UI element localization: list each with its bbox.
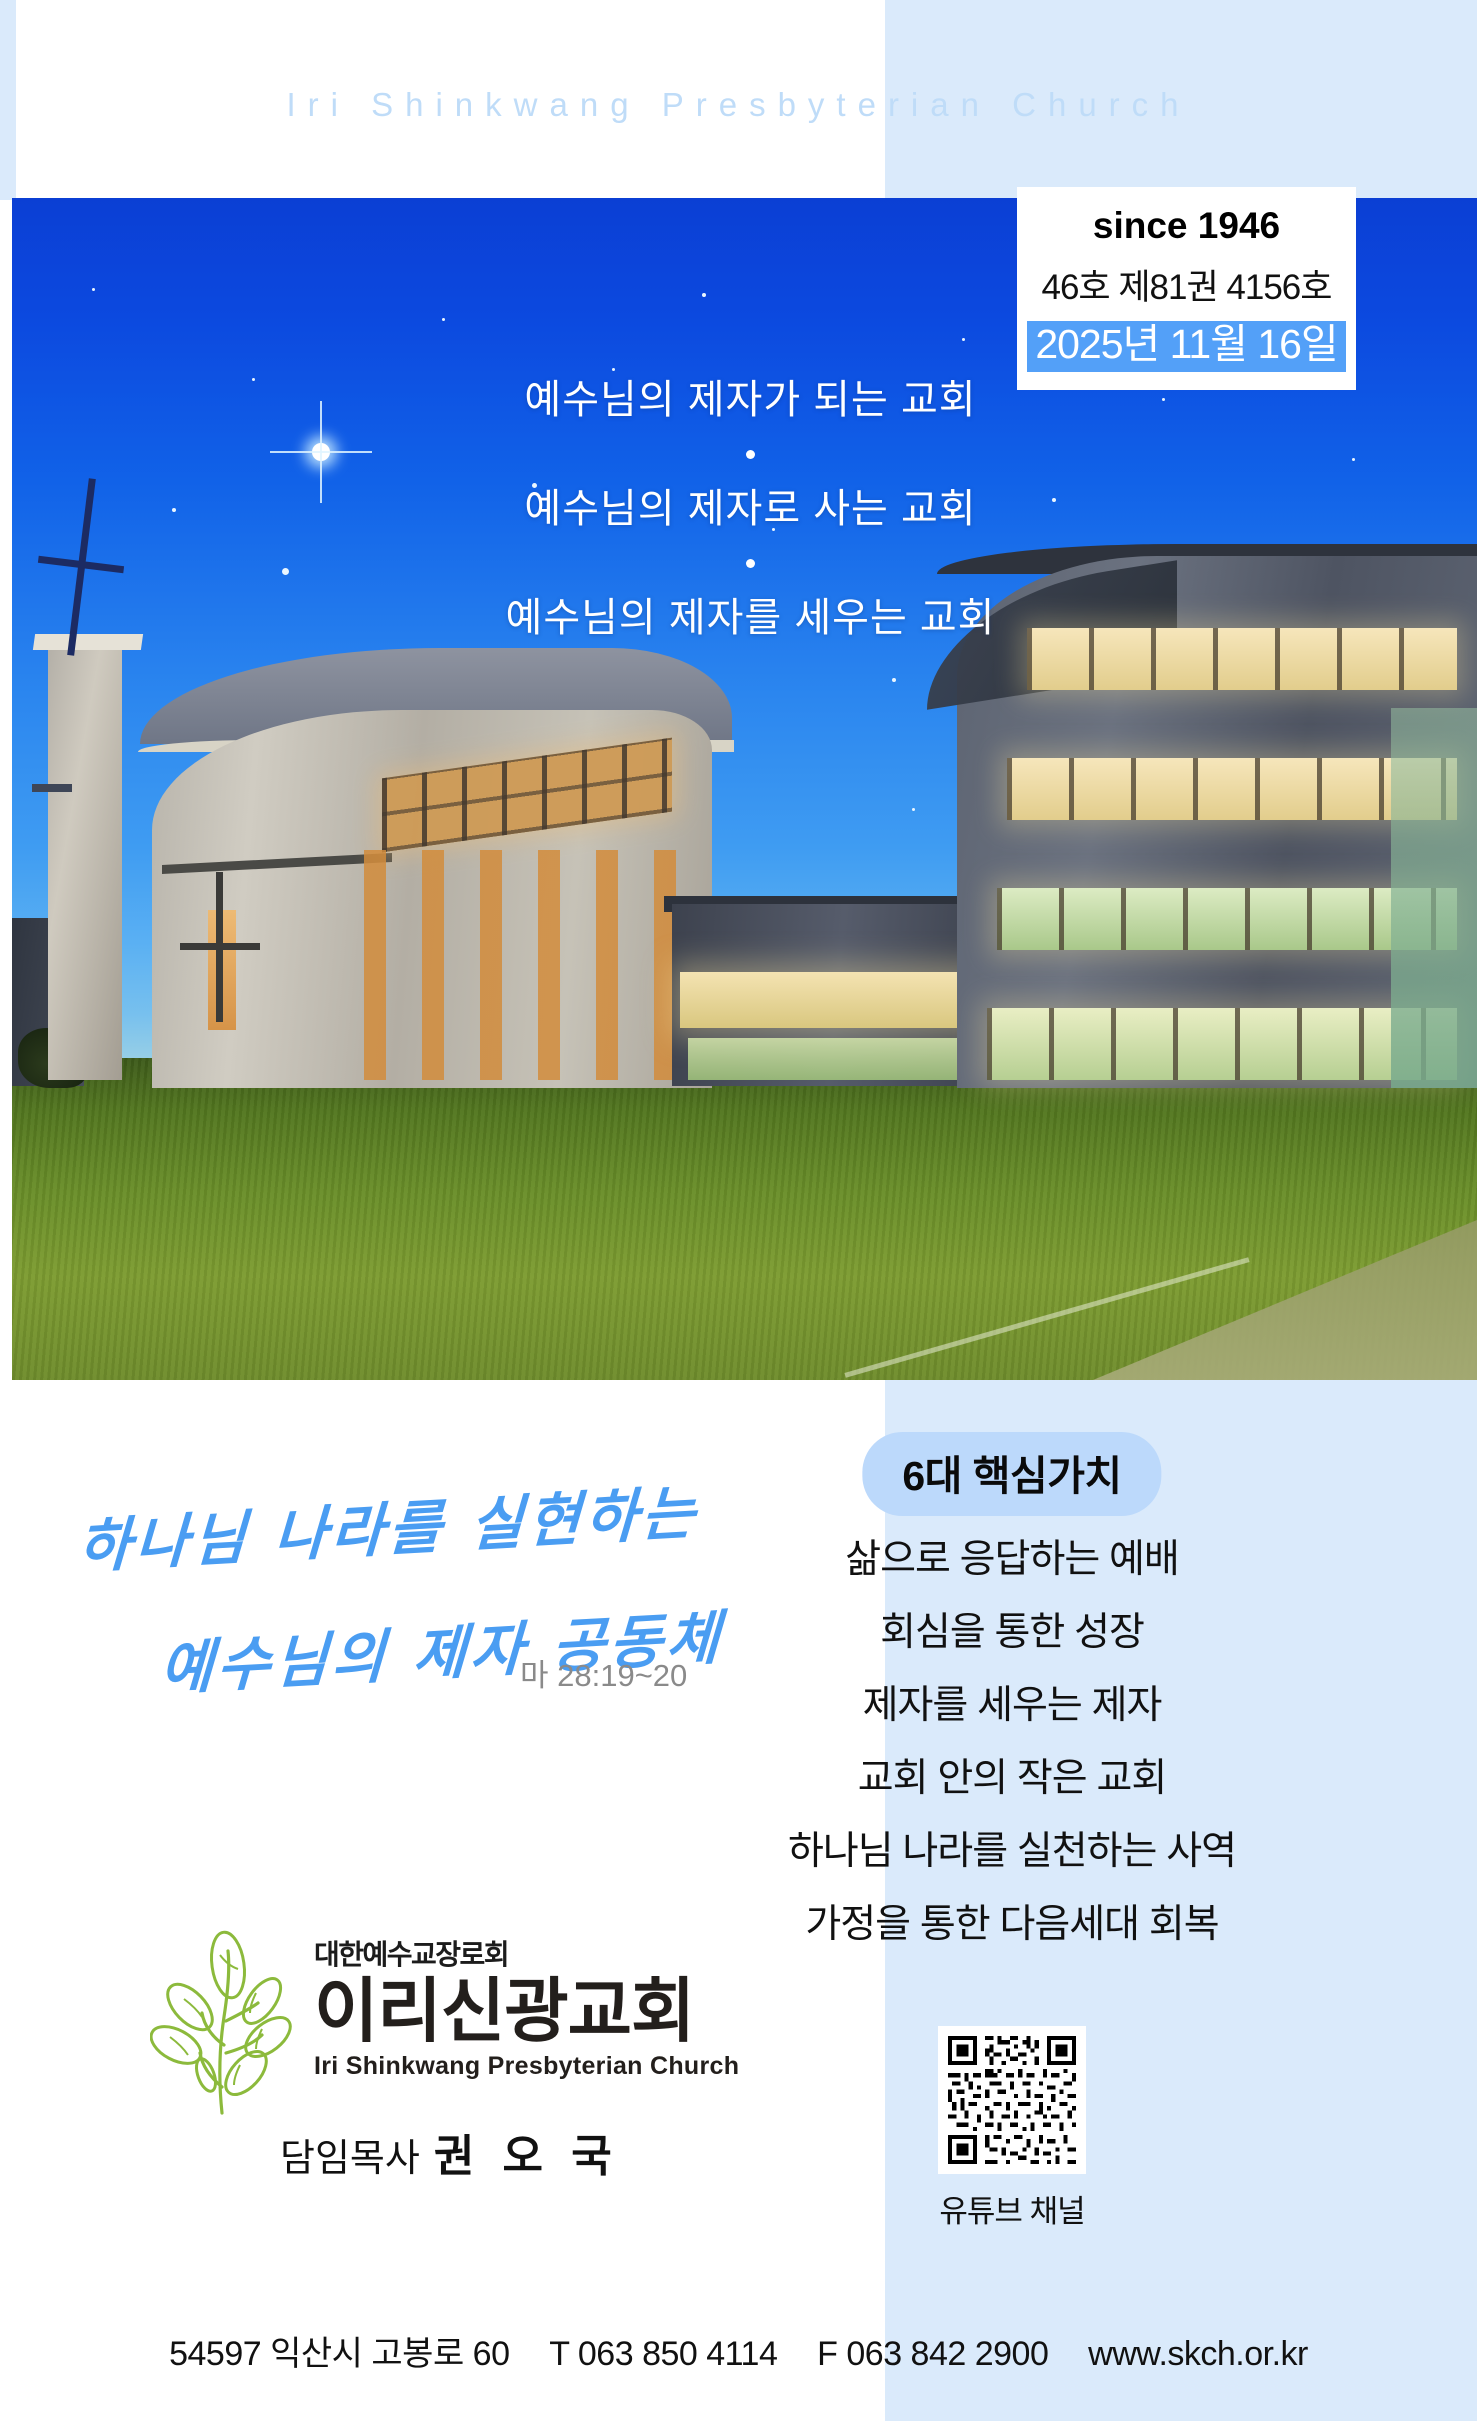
qr-code-icon[interactable] xyxy=(938,2026,1086,2174)
core-values-list: 삶으로 응답하는 예배 회심을 통한 성장 제자를 세우는 제자 교회 안의 작… xyxy=(732,1540,1292,1978)
footer-website[interactable]: www.skch.or.kr xyxy=(1088,2335,1308,2373)
core-value-item: 가정을 통한 다음세대 회복 xyxy=(732,1905,1292,1944)
bell-tower xyxy=(48,648,122,1080)
logo-wordmark: 대한예수교장로회 이리신광교회 Iri Shinkwang Presbyteri… xyxy=(314,1925,739,2081)
denomination-label: 대한예수교장로회 xyxy=(314,1933,739,1973)
mission-separator-dot xyxy=(746,450,755,459)
sanctuary-pier-windows xyxy=(364,850,684,1080)
tower-window-slit xyxy=(32,784,72,792)
scripture-reference: 마 28:19~20 xyxy=(520,1650,687,1695)
core-value-item: 삶으로 응답하는 예배 xyxy=(732,1540,1292,1579)
pastor-name: 권 오 국 xyxy=(434,2132,620,2181)
since-label: since 1946 xyxy=(1093,205,1280,247)
connector-windows-upper xyxy=(680,972,990,1028)
church-name-ko: 이리신광교회 xyxy=(314,1975,739,2048)
footer-address: 54597 익산시 고봉로 60 xyxy=(169,2335,509,2373)
church-logo: 대한예수교장로회 이리신광교회 Iri Shinkwang Presbyteri… xyxy=(150,1925,770,2115)
footer-contact: 54597 익산시 고봉로 60 T 063 850 4114 F 063 84… xyxy=(0,2326,1477,2375)
mission-statement: 예수님의 제자가 되는 교회 예수님의 제자로 사는 교회 예수님의 제자를 세… xyxy=(12,378,1477,640)
connector-windows-lower xyxy=(688,1038,978,1080)
mission-separator-dot xyxy=(746,559,755,568)
core-value-item: 하나님 나라를 실천하는 사역 xyxy=(732,1832,1292,1871)
bulletin-cover-page: Iri Shinkwang Presbyterian Church xyxy=(0,0,1477,2421)
footer-tel: T 063 850 4114 xyxy=(549,2335,777,2373)
core-value-item: 회심을 통한 성장 xyxy=(732,1613,1292,1652)
core-values-badge: 6대 핵심가치 xyxy=(862,1432,1161,1516)
pastor-title: 담임목사 xyxy=(280,2138,420,2180)
qr-label: 유튜브 채널 xyxy=(938,2186,1086,2231)
footer-fax: F 063 842 2900 xyxy=(817,2335,1048,2373)
senior-pastor: 담임목사권 오 국 xyxy=(280,2120,620,2184)
church-name-en: Iri Shinkwang Presbyterian Church xyxy=(314,2052,739,2081)
youtube-qr-block[interactable]: 유튜브 채널 xyxy=(938,2026,1086,2231)
olive-branch-icon xyxy=(150,1925,300,2115)
education-window-row-2 xyxy=(997,888,1457,950)
education-window-row-1 xyxy=(987,1008,1457,1080)
education-glass-wall xyxy=(1391,708,1477,1088)
page-title: Iri Shinkwang Presbyterian Church xyxy=(0,86,1477,124)
issue-date: 2025년 11월 16일 xyxy=(1027,321,1345,372)
core-value-item: 교회 안의 작은 교회 xyxy=(732,1759,1292,1798)
mission-line-2: 예수님의 제자로 사는 교회 xyxy=(12,487,1477,531)
facade-cross-arm xyxy=(180,943,260,950)
issue-info-box: since 1946 46호 제81권 4156호 2025년 11월 16일 xyxy=(1017,187,1356,390)
core-value-item: 제자를 세우는 제자 xyxy=(732,1686,1292,1725)
education-window-row-3 xyxy=(1007,758,1457,820)
volume-number: 46호 제81권 4156호 xyxy=(1042,259,1332,310)
mission-line-3: 예수님의 제자를 세우는 교회 xyxy=(12,596,1477,640)
